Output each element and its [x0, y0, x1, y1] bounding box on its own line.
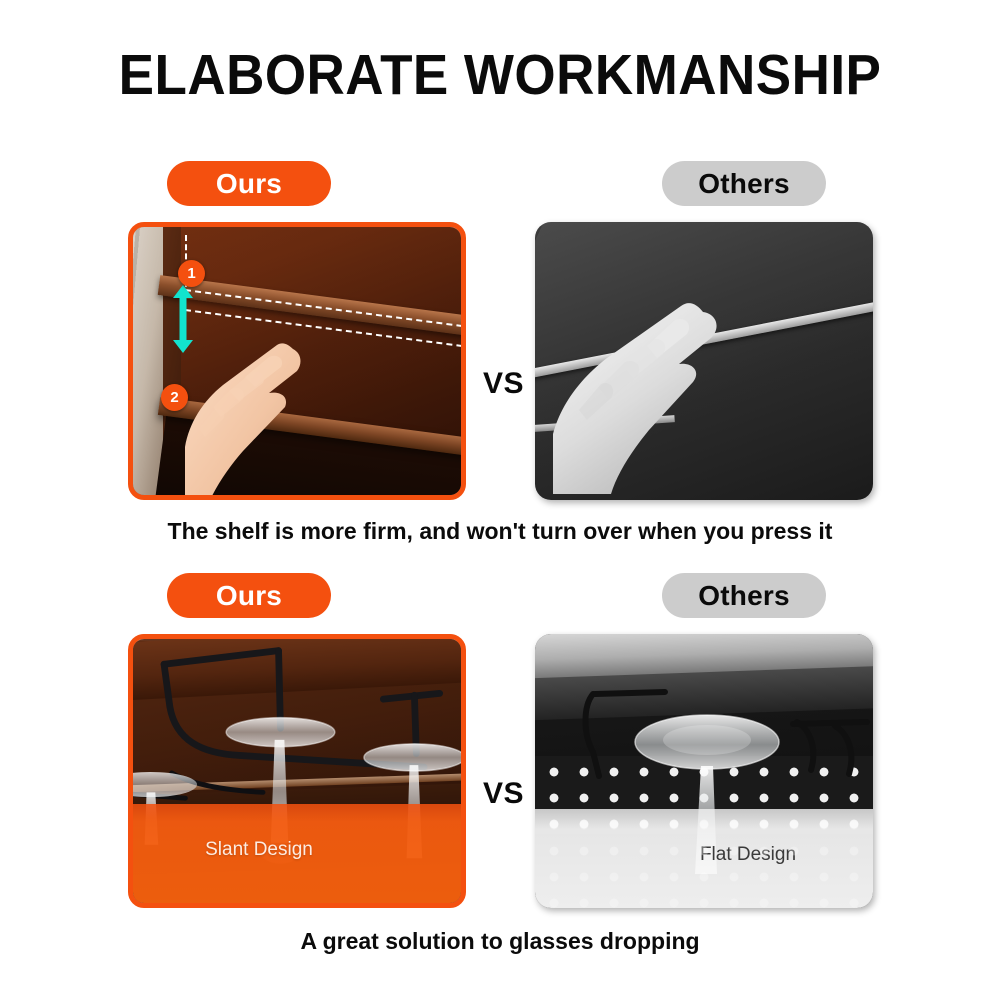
badge-ours-row2: Ours [167, 573, 331, 618]
badge-others-row1: Others [662, 161, 826, 206]
photo-others-shelf [535, 222, 873, 500]
flat-design-band: Flat Design [535, 809, 873, 908]
caption-row2: A great solution to glasses dropping [0, 928, 1000, 955]
page-title: ELABORATE WORKMANSHIP [35, 42, 965, 108]
photo-panel-others-shelf [535, 222, 873, 500]
photo-ours-rack: Slant Design [133, 639, 461, 903]
photo-panel-ours-shelf: 1 2 [128, 222, 466, 500]
photo-panel-others-rack: Flat Design [535, 634, 873, 908]
arrow-up-icon [173, 285, 193, 319]
marker-1: 1 [178, 260, 205, 287]
hand-illustration [185, 327, 309, 495]
caption-row1: The shelf is more firm, and won't turn o… [0, 518, 1000, 545]
flat-design-label: Flat Design [700, 844, 796, 866]
hand-illustration-grayscale [553, 284, 743, 494]
badge-others-row2: Others [662, 573, 826, 618]
infographic-page: ELABORATE WORKMANSHIP Ours Others [0, 0, 1000, 1000]
badge-ours-row1: Ours [167, 161, 331, 206]
vs-label-row2: VS [483, 777, 524, 811]
marker-2: 2 [161, 384, 188, 411]
arrow-down-icon [173, 319, 193, 353]
slant-design-label: Slant Design [205, 839, 313, 861]
slant-design-band: Slant Design [133, 804, 461, 903]
photo-others-rack: Flat Design [535, 634, 873, 908]
photo-ours-shelf: 1 2 [133, 227, 461, 495]
photo-panel-ours-rack: Slant Design [128, 634, 466, 908]
vs-label-row1: VS [483, 367, 524, 401]
